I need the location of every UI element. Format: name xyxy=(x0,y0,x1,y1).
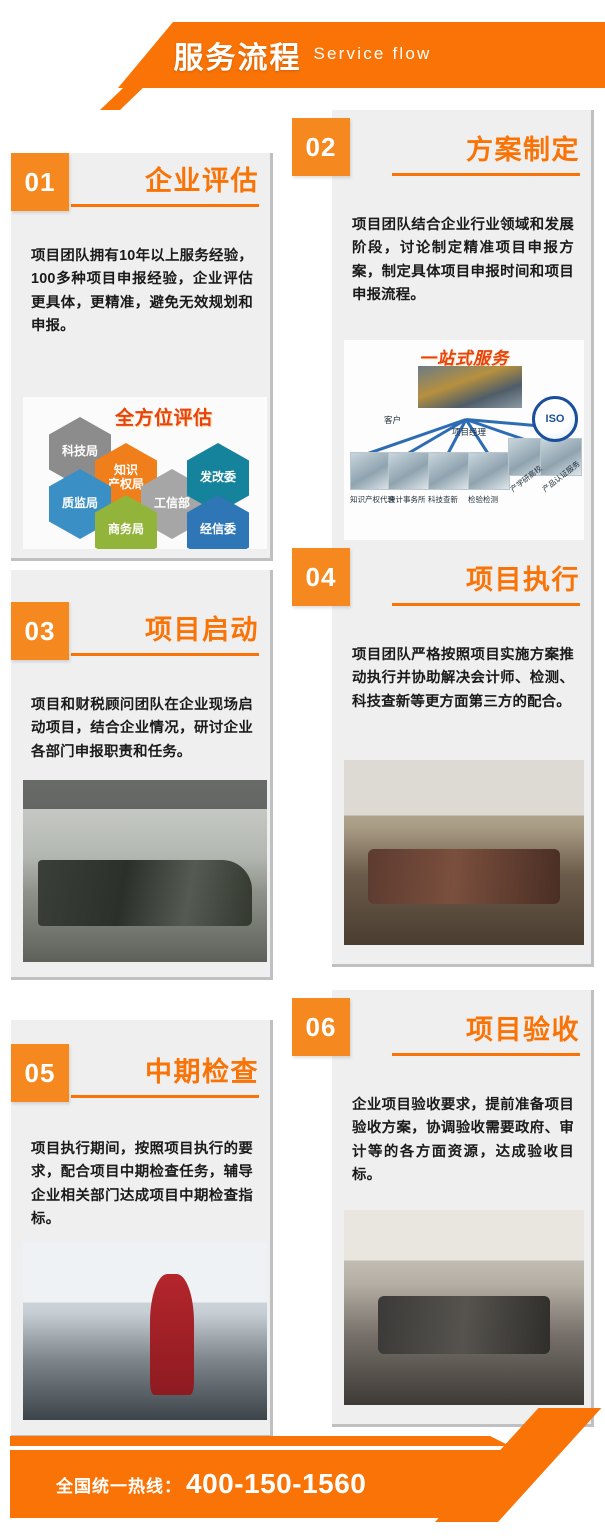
step-number-badge: 01 xyxy=(11,153,69,211)
card-media-photo xyxy=(344,760,584,945)
process-card-04[interactable]: 04 项目执行 项目团队严格按照项目实施方案推动执行并协助解决会计师、检测、科技… xyxy=(292,540,594,990)
card-heading-row: 企业评估 xyxy=(71,159,273,207)
photo-conference-room xyxy=(23,780,267,962)
title-underline xyxy=(71,653,259,656)
card-description: 项目团队严格按照项目实施方案推动执行并协助解决会计师、检测、科技查新等更方面第三… xyxy=(352,644,574,714)
onestop-node-0 xyxy=(350,452,392,490)
title-underline xyxy=(392,1053,580,1056)
card-title: 企业评估 xyxy=(71,159,273,198)
card-description: 企业项目验收要求，提前准备项目验收方案，协调验收需要政府、审计等的各方面资源，达… xyxy=(352,1094,574,1187)
photo-meeting-table xyxy=(344,760,584,945)
card-description: 项目团队结合企业行业领域和发展阶段，讨论制定精准项目申报方案，制定具体项目申报时… xyxy=(352,214,574,307)
card-media-photo xyxy=(23,780,267,962)
card-media-photo xyxy=(344,1210,584,1405)
card-title: 项目验收 xyxy=(392,1008,594,1047)
footer-thin-bar xyxy=(10,1436,510,1446)
step-number-badge: 05 xyxy=(11,1044,69,1102)
onestop-bottom-label-3: 检验检测 xyxy=(468,494,498,505)
process-card-01[interactable]: 01 企业评估 项目团队拥有10年以上服务经验，100多种项目申报经验，企业评估… xyxy=(11,153,273,583)
step-number-badge: 03 xyxy=(11,602,69,660)
onestop-node-2 xyxy=(428,452,470,490)
title-underline xyxy=(392,173,580,176)
photo-conference-hall xyxy=(344,1210,584,1405)
card-heading-row: 方案制定 xyxy=(392,128,594,176)
step-number-badge: 06 xyxy=(292,998,350,1056)
card-media-hex-diagram: 全方位评估 科技局知识产权局质监局工信部商务局发改委经信委 xyxy=(23,397,267,549)
footer-hotline-group: 全国统一热线： 400-150-1560 xyxy=(56,1450,366,1518)
card-description: 项目和财税顾问团队在企业现场启动项目，结合企业情况，研讨企业各部门申报职责和任务… xyxy=(31,694,253,764)
onestop-bottom-label-2: 科技查新 xyxy=(428,494,458,505)
card-heading-row: 中期检查 xyxy=(71,1050,273,1098)
onestop-service-diagram: 一站式服务 客户项目经理 知识产权代理会计事务所科技查新检验检测产学研高校产品认… xyxy=(344,340,584,540)
photo-lobby-visit xyxy=(23,1242,267,1420)
process-card-02[interactable]: 02 方案制定 项目团队结合企业行业领域和发展阶段，讨论制定精准项目申报方案，制… xyxy=(292,110,594,578)
onestop-center-label-1: 项目经理 xyxy=(452,426,486,438)
card-heading-row: 项目执行 xyxy=(392,558,594,606)
card-description: 项目执行期间，按照项目执行的要求，配合项目中期检查任务，辅导企业相关部门达成项目… xyxy=(31,1138,253,1231)
onestop-bottom-label-1: 会计事务所 xyxy=(388,494,426,505)
page-title-cn: 服务流程 xyxy=(173,33,301,77)
footer-banner: 全国统一热线： 400-150-1560 xyxy=(0,1408,605,1538)
card-title: 方案制定 xyxy=(392,128,594,167)
title-underline xyxy=(392,603,580,606)
card-title: 项目启动 xyxy=(71,608,273,647)
title-underline xyxy=(71,1095,259,1098)
card-description: 项目团队拥有10年以上服务经验，100多种项目申报经验，企业评估更具体，更精准，… xyxy=(31,245,253,338)
hotline-number[interactable]: 400-150-1560 xyxy=(186,1468,366,1500)
hotline-label: 全国统一热线： xyxy=(56,1472,182,1497)
card-grid: 01 企业评估 项目团队拥有10年以上服务经验，100多种项目申报经验，企业评估… xyxy=(0,100,605,1410)
process-card-05[interactable]: 05 中期检查 项目执行期间，按照项目执行的要求，配合项目中期检查任务，辅导企业… xyxy=(11,1020,273,1460)
onestop-team-photo xyxy=(418,366,522,408)
iso-certification-icon: ISO xyxy=(532,396,578,442)
onestop-center-label-0: 客户 xyxy=(384,414,401,426)
process-card-03[interactable]: 03 项目启动 项目和财税顾问团队在企业现场启动项目，结合企业情况，研讨企业各部… xyxy=(11,570,273,1002)
step-number-badge: 04 xyxy=(292,548,350,606)
hex-diagram-title: 全方位评估 xyxy=(115,403,213,430)
card-media-photo xyxy=(23,1242,267,1420)
header-title-group: 服务流程 Service flow xyxy=(0,22,605,88)
step-number-badge: 02 xyxy=(292,118,350,176)
process-card-06[interactable]: 06 项目验收 企业项目验收要求，提前准备项目验收方案，协调验收需要政府、审计等… xyxy=(292,990,594,1450)
service-flow-infographic: 服务流程 Service flow 01 企业评估 项目团队拥有10年以上服务经… xyxy=(0,0,605,1538)
onestop-node-1 xyxy=(388,452,430,490)
page-title-en: Service flow xyxy=(313,44,431,66)
onestop-node-3 xyxy=(468,452,510,490)
title-underline xyxy=(71,204,259,207)
card-title: 项目执行 xyxy=(392,558,594,597)
card-media-onestop-diagram: 一站式服务 客户项目经理 知识产权代理会计事务所科技查新检验检测产学研高校产品认… xyxy=(344,340,584,540)
card-title: 中期检查 xyxy=(71,1050,273,1089)
card-heading-row: 项目验收 xyxy=(392,1008,594,1056)
hex-diagram: 全方位评估 科技局知识产权局质监局工信部商务局发改委经信委 xyxy=(23,397,267,549)
card-heading-row: 项目启动 xyxy=(71,608,273,656)
